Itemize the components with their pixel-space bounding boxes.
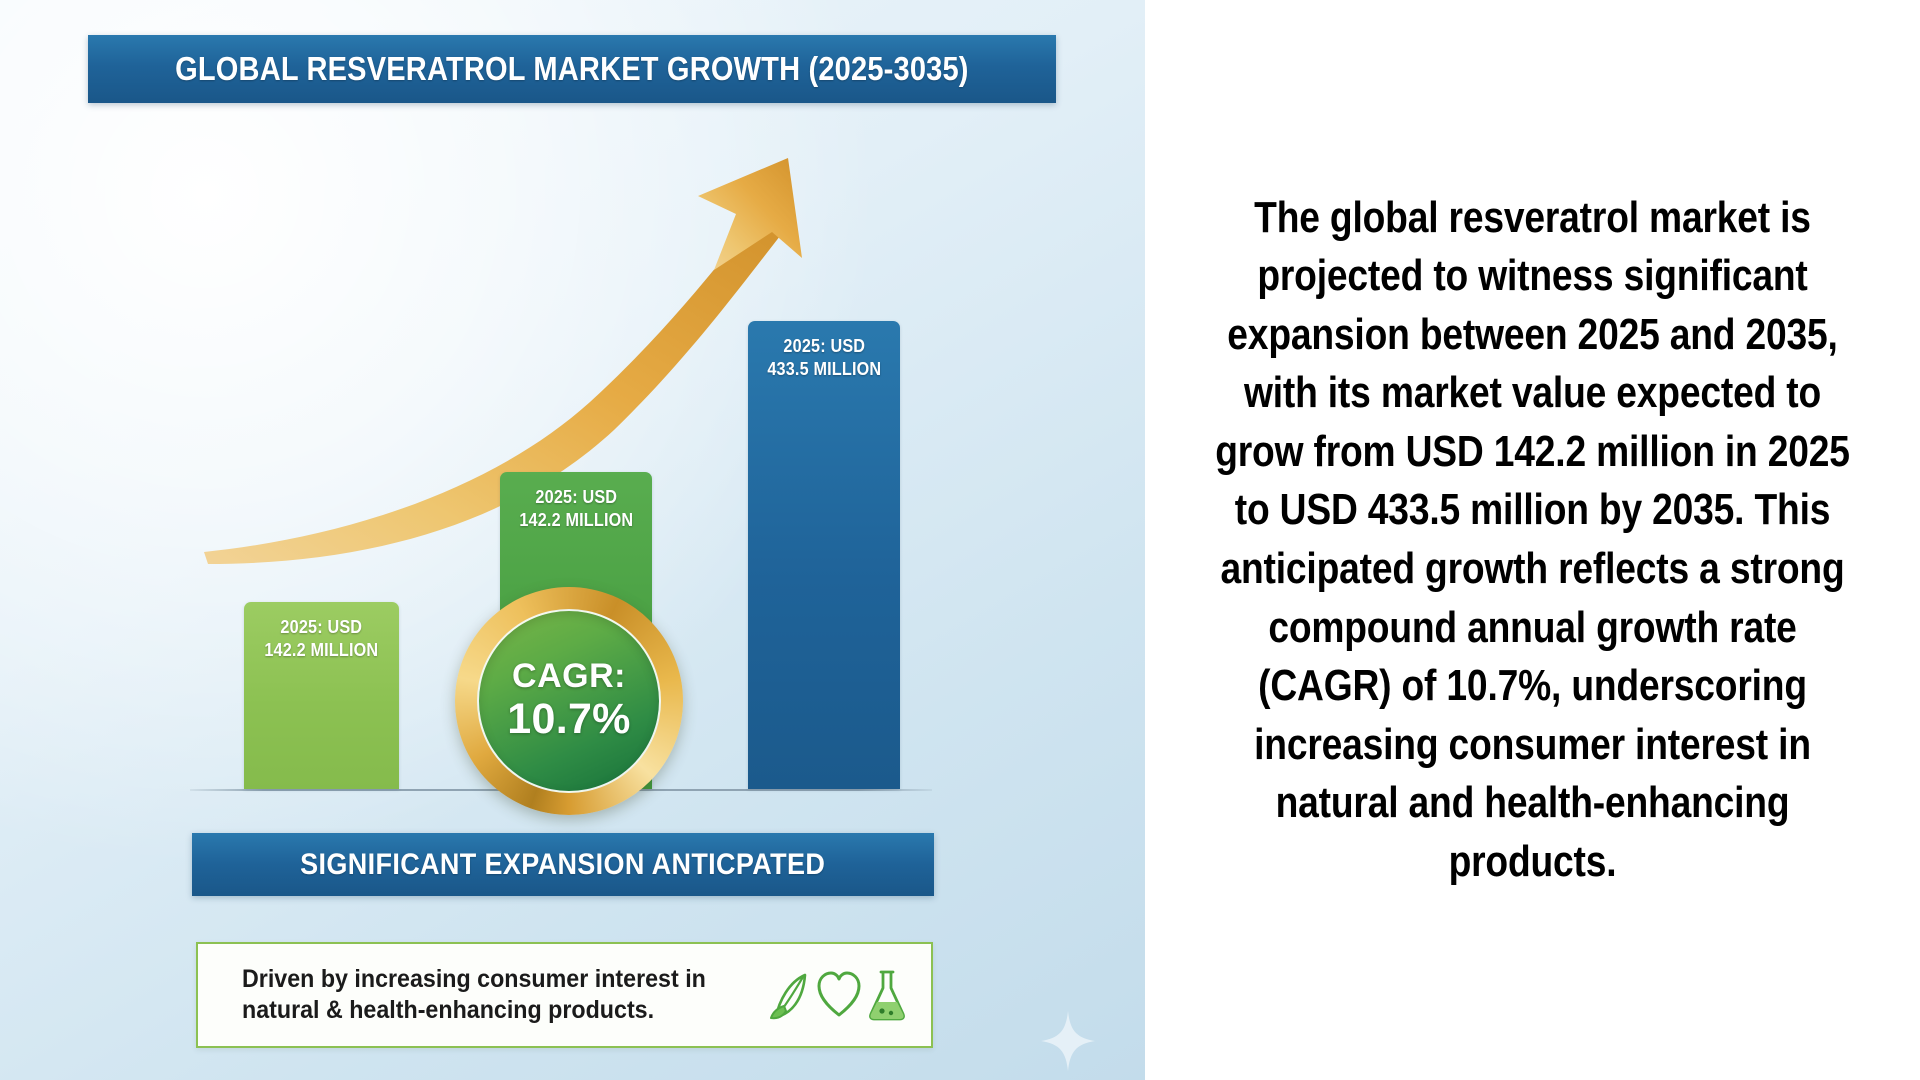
bar-2025-first: 2025: USD142.2 MILLION [244, 602, 399, 789]
page-root: GLOBAL RESVERATROL MARKET GROWTH (2025-3… [0, 0, 1920, 1080]
expansion-banner: SIGNIFICANT EXPANSION ANTICPATED [192, 833, 934, 896]
cagr-value: 10.7% [507, 695, 630, 743]
leaf-icon [765, 968, 813, 1022]
caption-icon-group [765, 968, 909, 1022]
sparkle-icon [1040, 1010, 1096, 1072]
bar-2035-third: 2025: USD433.5 MILLION [748, 321, 900, 789]
page-title: GLOBAL RESVERATROL MARKET GROWTH (2025-3… [175, 50, 969, 88]
bar-label-1: 2025: USD142.2 MILLION [265, 616, 379, 789]
bar-label-3: 2025: USD433.5 MILLION [767, 335, 881, 789]
summary-panel: The global resveratrol market is project… [1145, 0, 1920, 1080]
bar-chart: 2025: USD142.2 MILLION 2025: USD142.2 MI… [0, 120, 1145, 800]
cagr-label: CAGR: [512, 659, 626, 695]
infographic-panel: GLOBAL RESVERATROL MARKET GROWTH (2025-3… [0, 0, 1145, 1080]
infographic-title-bar: GLOBAL RESVERATROL MARKET GROWTH (2025-3… [88, 35, 1056, 103]
banner-text: SIGNIFICANT EXPANSION ANTICPATED [300, 848, 825, 882]
caption-text: Driven by increasing consumer interest i… [242, 964, 719, 1027]
cagr-badge-inner: CAGR: 10.7% [477, 609, 661, 793]
caption-box: Driven by increasing consumer interest i… [196, 942, 933, 1048]
flask-icon [865, 968, 909, 1022]
cagr-badge: CAGR: 10.7% [455, 587, 683, 815]
heart-icon [816, 970, 862, 1020]
summary-paragraph: The global resveratrol market is project… [1210, 189, 1855, 891]
